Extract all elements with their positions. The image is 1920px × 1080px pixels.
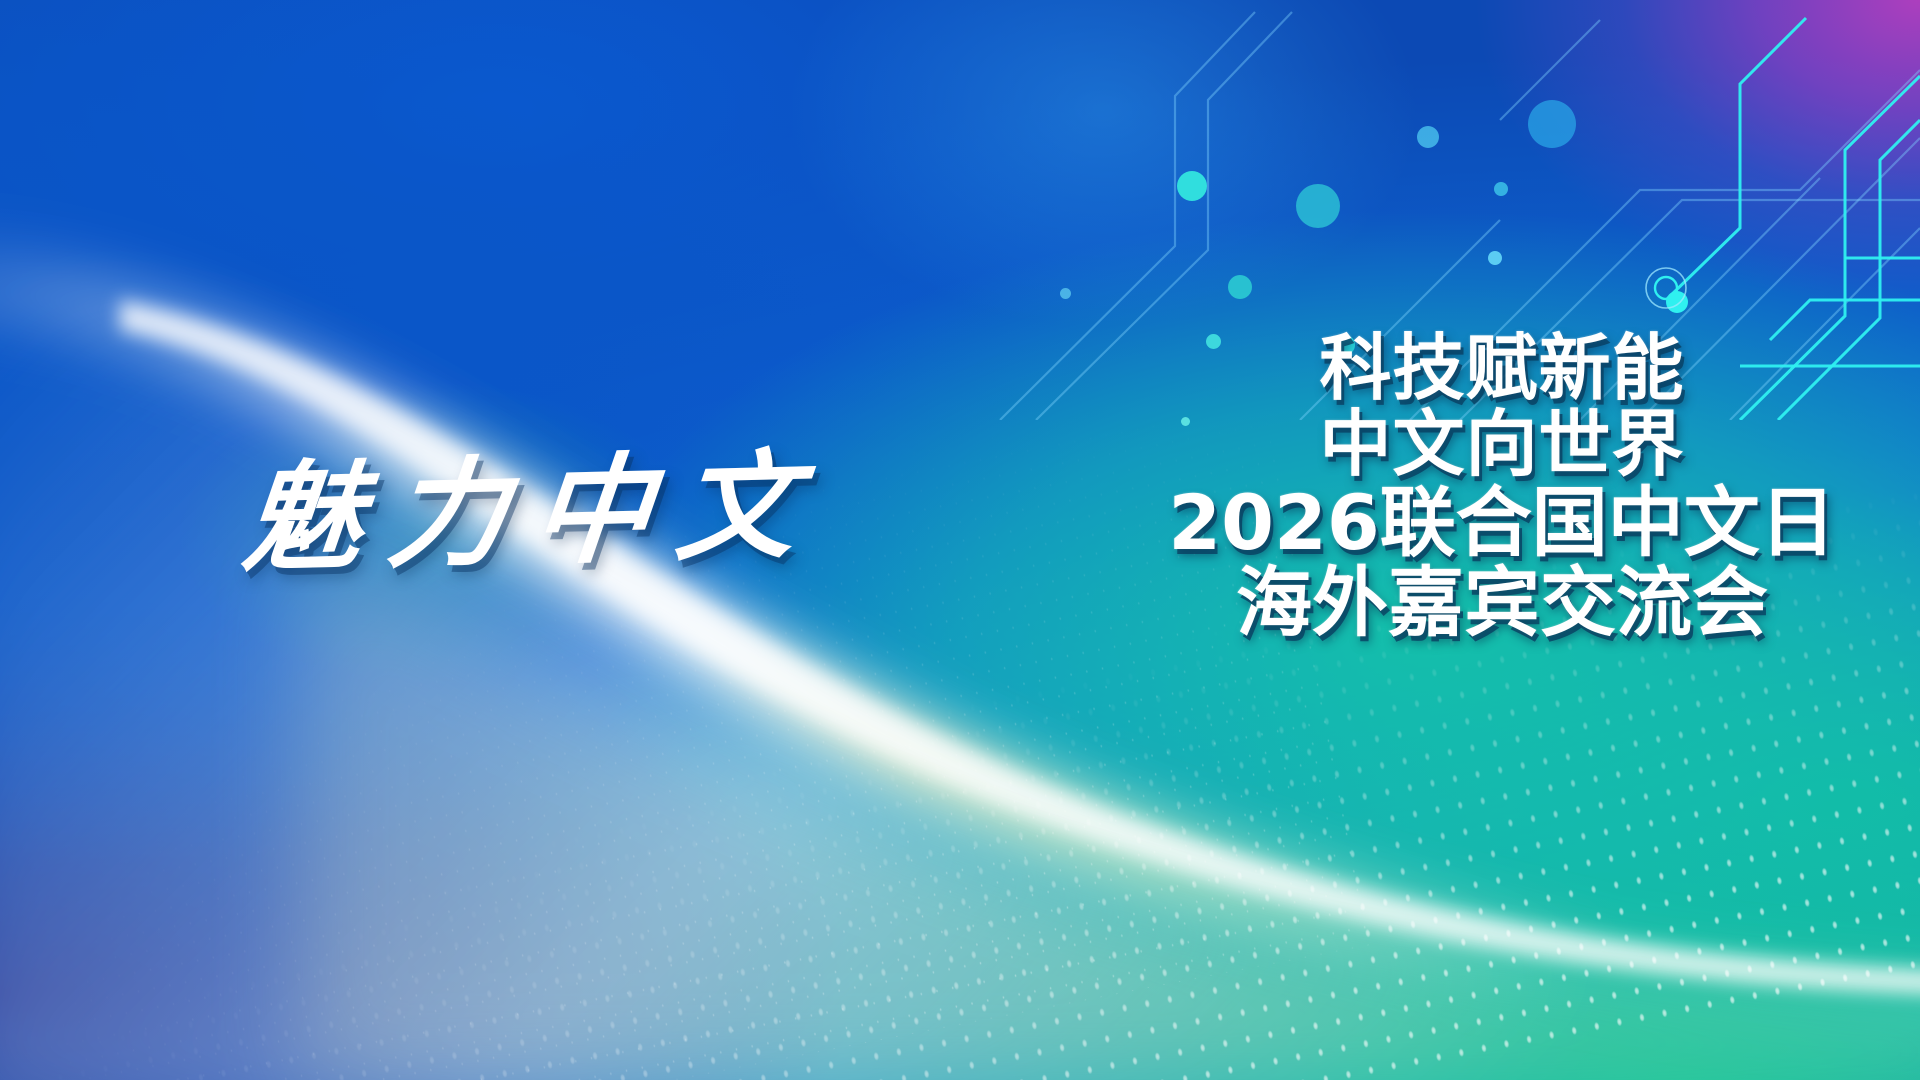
poster-canvas: 魅力中文 科技赋新能 中文向世界 2026联合国中文日 海外嘉宾交流会 xyxy=(0,0,1920,1080)
headline-line-2: 中文向世界 xyxy=(1152,406,1852,482)
calligraphy-title: 魅力中文 xyxy=(238,448,827,580)
headline-line-1: 科技赋新能 xyxy=(1152,330,1852,406)
headline-line-4: 海外嘉宾交流会 xyxy=(1152,563,1852,644)
headline-line-3: 2026联合国中文日 xyxy=(1152,483,1852,564)
headline-block: 科技赋新能 中文向世界 2026联合国中文日 海外嘉宾交流会 xyxy=(1152,330,1852,644)
